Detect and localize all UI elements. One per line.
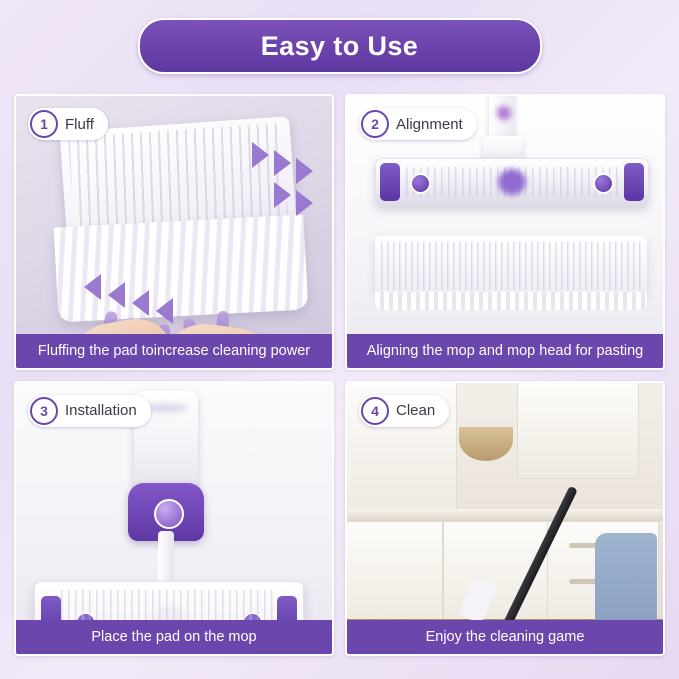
steps-grid: 1 Fluff Fluffing the pad toincrease clea… xyxy=(14,94,665,656)
step-badge-2: 2 Alignment xyxy=(359,108,477,140)
step-card-1: 1 Fluff Fluffing the pad toincrease clea… xyxy=(14,94,334,370)
product-infographic: Easy to Use xyxy=(0,0,679,679)
arrow-right-icon xyxy=(296,190,313,216)
countertop xyxy=(347,509,663,521)
arrow-right-icon xyxy=(252,142,269,168)
cleaning-pad-fringe xyxy=(375,292,647,310)
mop-head xyxy=(375,158,649,206)
step-badge-3: 3 Installation xyxy=(28,395,151,427)
step-card-2: 2 Alignment Aligning the mop and mop hea… xyxy=(345,94,665,370)
mop-head-knob-left xyxy=(410,173,431,194)
title-banner: Easy to Use xyxy=(0,18,679,74)
arrow-left-icon xyxy=(108,282,125,308)
page-title: Easy to Use xyxy=(261,31,418,62)
upper-cabinet xyxy=(517,383,639,479)
woven-basket xyxy=(459,427,513,461)
arrow-right-icon xyxy=(274,182,291,208)
title-pill: Easy to Use xyxy=(138,18,542,74)
arrow-right-icon xyxy=(296,158,313,184)
arrow-left-icon xyxy=(84,274,101,300)
step-label: Fluff xyxy=(65,116,94,133)
arrow-left-icon xyxy=(132,290,149,316)
step-caption: Aligning the mop and mop head for pastin… xyxy=(347,334,663,368)
mop-dial xyxy=(154,499,184,529)
handle-accent xyxy=(497,106,511,120)
step-caption: Fluffing the pad toincrease cleaning pow… xyxy=(16,334,332,368)
step-number: 3 xyxy=(30,397,58,425)
cleaning-pad xyxy=(375,236,647,296)
arrow-left-icon xyxy=(156,298,173,324)
step-label: Installation xyxy=(65,402,137,419)
step-card-4: 4 Clean Enjoy the cleaning game xyxy=(345,381,665,657)
mop-pad-fringe xyxy=(54,215,309,323)
step-badge-1: 1 Fluff xyxy=(28,108,108,140)
step-number: 4 xyxy=(361,397,389,425)
mop-head-joint xyxy=(498,169,526,195)
step-number: 2 xyxy=(361,110,389,138)
mop-head-endcap-right xyxy=(624,163,644,201)
step-badge-4: 4 Clean xyxy=(359,395,449,427)
lower-cabinet xyxy=(347,521,443,623)
step-card-3: 3 Installation Place the pad on the mop xyxy=(14,381,334,657)
step-label: Clean xyxy=(396,402,435,419)
step-caption: Enjoy the cleaning game xyxy=(347,620,663,654)
step-caption: Place the pad on the mop xyxy=(16,620,332,654)
arrow-right-icon xyxy=(274,150,291,176)
mop-head-knob-right xyxy=(593,173,614,194)
step-label: Alignment xyxy=(396,116,463,133)
step-number: 1 xyxy=(30,110,58,138)
mop-head-endcap-left xyxy=(380,163,400,201)
